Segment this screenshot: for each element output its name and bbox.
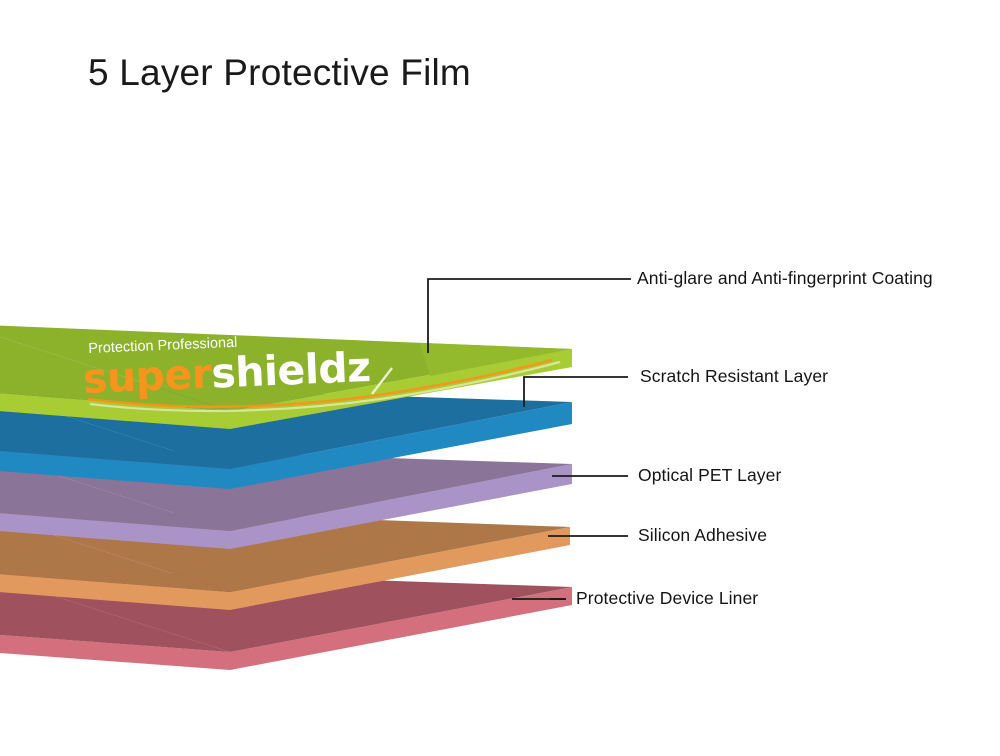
layer-stack-diagram	[0, 0, 1000, 756]
layer-label-anti-glare-coating: Anti-glare and Anti-fingerprint Coating	[637, 268, 933, 289]
leader-line-layer-1	[428, 279, 631, 353]
layer-label-protective-device-liner: Protective Device Liner	[576, 588, 758, 609]
layer-label-optical-pet: Optical PET Layer	[638, 465, 781, 486]
layer-label-scratch-resistant: Scratch Resistant Layer	[640, 366, 828, 387]
layer-label-silicon-adhesive: Silicon Adhesive	[638, 525, 767, 546]
diagram-canvas: 5 Layer Protective Film	[0, 0, 1000, 756]
